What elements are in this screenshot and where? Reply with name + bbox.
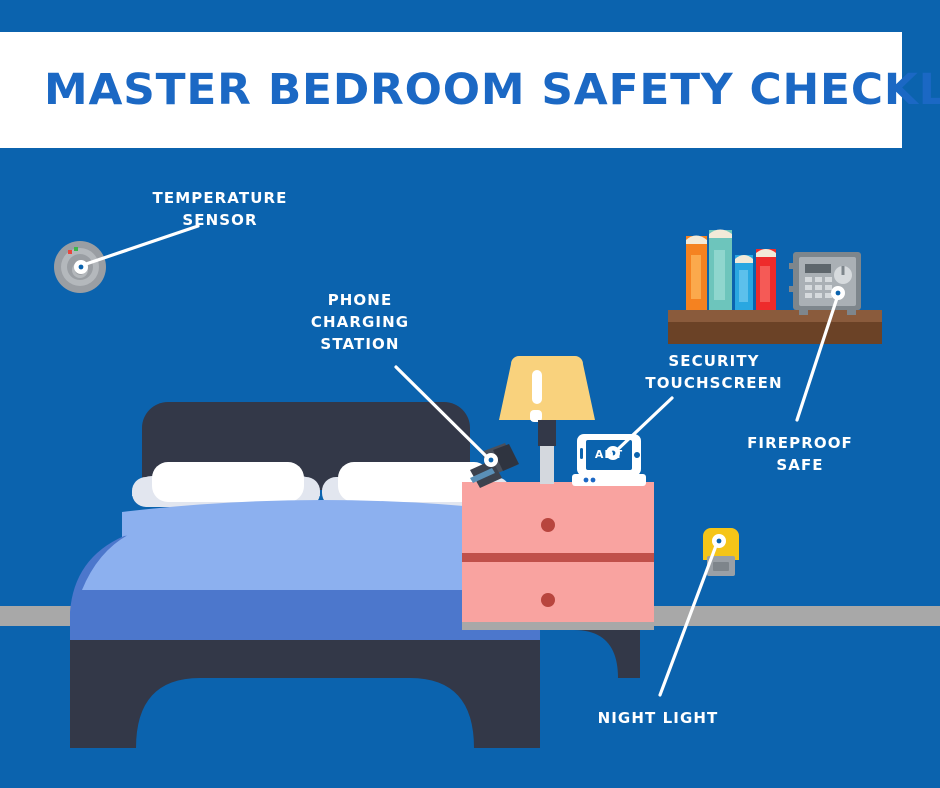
wall-shelf (668, 310, 882, 344)
page-title: MASTER BEDROOM SAFETY CHECKLIST (44, 65, 940, 115)
nightstand-knob-top (541, 518, 555, 532)
infographic-canvas: MASTER BEDROOM SAFETY CHECKLIST TEMPERAT… (0, 0, 940, 788)
fireproof-safe-icon (789, 252, 861, 315)
security-panel-brand-text: ADT (586, 448, 632, 461)
nightstand-knob-bottom (541, 593, 555, 607)
title-band: MASTER BEDROOM SAFETY CHECKLIST (0, 32, 902, 148)
